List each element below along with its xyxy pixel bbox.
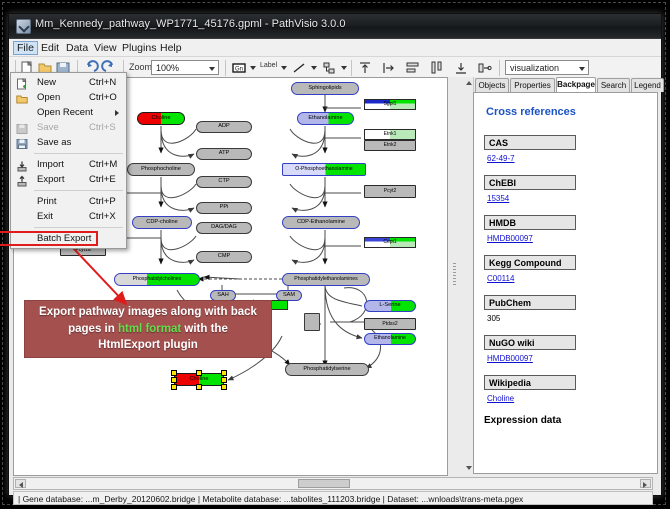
tab-backpage[interactable]: Backpage bbox=[556, 77, 596, 92]
xref-value-wikipedia[interactable]: Choline bbox=[487, 394, 514, 403]
menu-item-export[interactable]: Export Ctrl+E bbox=[11, 172, 126, 187]
xref-value-hmdb[interactable]: HMDB00097 bbox=[487, 234, 533, 243]
menu-item-save-label: Save bbox=[37, 122, 59, 133]
menu-item-new-label: New bbox=[37, 77, 56, 88]
interaction-dropdown-icon[interactable] bbox=[341, 66, 347, 70]
menu-item-print-accel: Ctrl+P bbox=[89, 196, 116, 207]
window-titlebar[interactable]: Mm_Kennedy_pathway_WP1771_45176.gpml - P… bbox=[9, 14, 661, 39]
menu-item-new-accel: Ctrl+N bbox=[89, 77, 116, 88]
chevron-down-icon bbox=[579, 67, 585, 71]
visualization-value: visualization bbox=[510, 63, 559, 73]
selection-handle[interactable] bbox=[196, 370, 202, 376]
import-icon bbox=[16, 159, 28, 171]
align-top-icon[interactable] bbox=[357, 60, 373, 76]
menu-file[interactable]: File bbox=[13, 41, 38, 55]
menu-item-export-label: Export bbox=[37, 174, 64, 185]
vertical-splitter[interactable] bbox=[450, 77, 459, 476]
tab-legend[interactable]: Legend bbox=[631, 78, 664, 92]
xref-source-cas: CAS bbox=[484, 135, 576, 150]
window-title: Mm_Kennedy_pathway_WP1771_45176.gpml - P… bbox=[35, 18, 345, 30]
horizontal-scrollbar[interactable] bbox=[13, 477, 653, 490]
menu-item-open-recent-label: Open Recent bbox=[37, 107, 93, 118]
dock-tabstrip: Objects Properties Backpage Search Legen… bbox=[473, 77, 659, 92]
tab-objects[interactable]: Objects bbox=[475, 78, 509, 92]
visualization-combo[interactable]: visualization bbox=[505, 60, 589, 75]
align-left-icon[interactable] bbox=[381, 60, 397, 76]
xref-value-kegg[interactable]: C00114 bbox=[487, 274, 514, 283]
svg-text:Gn: Gn bbox=[235, 67, 243, 73]
screen: Mm_Kennedy_pathway_WP1771_45176.gpml - P… bbox=[0, 0, 670, 509]
side-dock: Objects Properties Backpage Search Legen… bbox=[464, 77, 659, 476]
menu-item-batch-export[interactable]: Batch Export bbox=[11, 231, 126, 246]
xref-source-kegg: Kegg Compound bbox=[484, 255, 576, 270]
selection-handle[interactable] bbox=[221, 370, 227, 376]
menu-edit[interactable]: Edit bbox=[37, 41, 63, 55]
chevron-right-icon bbox=[115, 110, 119, 116]
menu-item-save: Save Ctrl+S bbox=[11, 120, 126, 135]
label-dropdown-icon[interactable] bbox=[281, 66, 287, 70]
menu-item-open-label: Open bbox=[37, 92, 60, 103]
menu-item-open[interactable]: Open Ctrl+O bbox=[11, 90, 126, 105]
pathvisio-window: Mm_Kennedy_pathway_WP1771_45176.gpml - P… bbox=[8, 13, 662, 496]
menu-item-new[interactable]: New Ctrl+N bbox=[11, 75, 126, 90]
menu-item-import-label: Import bbox=[37, 159, 64, 170]
chevron-down-icon bbox=[209, 67, 215, 71]
menu-item-import-accel: Ctrl+M bbox=[89, 159, 117, 170]
zoom-combo[interactable]: 100% bbox=[151, 60, 219, 75]
menu-item-open-recent[interactable]: Open Recent bbox=[11, 105, 126, 120]
line-icon[interactable] bbox=[291, 60, 307, 76]
save-icon bbox=[16, 122, 28, 134]
chevron-down-icon[interactable] bbox=[466, 466, 472, 470]
cross-references-heading: Cross references bbox=[486, 106, 576, 118]
xref-source-chebi: ChEBI bbox=[484, 175, 576, 190]
selection-handle[interactable] bbox=[171, 370, 177, 376]
xref-source-nugo: NuGO wiki bbox=[484, 335, 576, 350]
xref-value-pubchem: 305 bbox=[487, 314, 500, 323]
menu-item-print[interactable]: Print Ctrl+P bbox=[11, 194, 126, 209]
menu-data[interactable]: Data bbox=[62, 41, 92, 55]
pathvisio-icon bbox=[16, 19, 31, 34]
statusbar-text: | Gene database: ...m_Derby_20120602.bri… bbox=[18, 494, 523, 504]
selection-handle[interactable] bbox=[171, 384, 177, 390]
menu-item-print-label: Print bbox=[37, 196, 57, 207]
selection-handle[interactable] bbox=[221, 384, 227, 390]
xref-source-hmdb: HMDB bbox=[484, 215, 576, 230]
scroll-thumb[interactable] bbox=[298, 479, 350, 488]
menu-view[interactable]: View bbox=[90, 41, 121, 55]
xref-source-pubchem: PubChem bbox=[484, 295, 576, 310]
new-file-icon bbox=[16, 77, 28, 89]
save-as-icon bbox=[16, 137, 28, 149]
menu-plugins[interactable]: Plugins bbox=[118, 41, 160, 55]
splitter-grip bbox=[453, 263, 456, 285]
open-folder-icon bbox=[16, 92, 28, 104]
xref-source-wikipedia: Wikipedia bbox=[484, 375, 576, 390]
xref-value-nugo[interactable]: HMDB00097 bbox=[487, 354, 533, 363]
distribute-horizontal-icon[interactable] bbox=[405, 60, 421, 76]
selection-handle[interactable] bbox=[221, 377, 227, 383]
interaction-icon[interactable] bbox=[321, 60, 337, 76]
menu-item-exit-label: Exit bbox=[37, 211, 53, 222]
datanode-icon[interactable]: Gn bbox=[231, 60, 247, 76]
zoom-value: 100% bbox=[156, 63, 179, 73]
menu-help[interactable]: Help bbox=[156, 41, 186, 55]
expression-data-heading: Expression data bbox=[484, 415, 561, 426]
scroll-right-button[interactable] bbox=[640, 479, 651, 488]
menu-item-open-accel: Ctrl+O bbox=[89, 92, 117, 103]
menu-item-save-as[interactable]: Save as bbox=[11, 135, 126, 150]
menu-item-save-as-label: Save as bbox=[37, 137, 71, 148]
backpage-panel[interactable]: Cross references CAS 62-49-7 ChEBI 15354… bbox=[473, 92, 658, 474]
datanode-dropdown-icon[interactable] bbox=[250, 66, 256, 70]
selection-handle[interactable] bbox=[171, 377, 177, 383]
common-width-icon[interactable] bbox=[453, 60, 469, 76]
batch-export-highlight bbox=[0, 231, 98, 246]
xref-value-chebi[interactable]: 15354 bbox=[487, 194, 509, 203]
menu-item-export-accel: Ctrl+E bbox=[89, 174, 116, 185]
xref-value-cas[interactable]: 62-49-7 bbox=[487, 154, 515, 163]
tab-search[interactable]: Search bbox=[597, 78, 630, 92]
menu-item-exit[interactable]: Exit Ctrl+X bbox=[11, 209, 126, 224]
line-dropdown-icon[interactable] bbox=[311, 66, 317, 70]
label-tool-label: Label bbox=[260, 62, 277, 69]
tab-properties[interactable]: Properties bbox=[510, 78, 555, 92]
export-icon bbox=[16, 174, 28, 186]
statusbar: | Gene database: ...m_Derby_20120602.bri… bbox=[13, 491, 653, 505]
menubar: File Edit Data View Plugins Help bbox=[9, 39, 661, 57]
menu-item-exit-accel: Ctrl+X bbox=[89, 211, 116, 222]
stack-icon[interactable] bbox=[477, 60, 493, 76]
file-menu-dropdown[interactable]: New Ctrl+N Open Ctrl+O Open Recent Save bbox=[10, 72, 127, 249]
distribute-vertical-icon[interactable] bbox=[429, 60, 445, 76]
selection-handle[interactable] bbox=[196, 384, 202, 390]
scroll-left-button[interactable] bbox=[15, 479, 26, 488]
menu-item-save-accel: Ctrl+S bbox=[89, 122, 116, 133]
menu-item-import[interactable]: Import Ctrl+M bbox=[11, 157, 126, 172]
chevron-up-icon[interactable] bbox=[466, 81, 472, 85]
